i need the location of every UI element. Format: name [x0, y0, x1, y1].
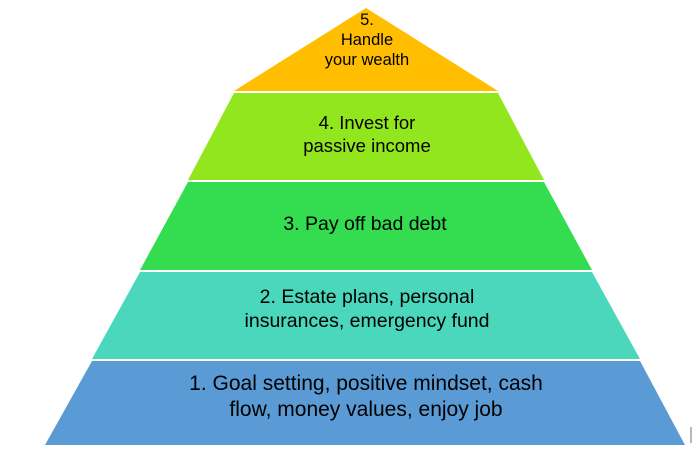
pyramid-tier-4-shape[interactable] [188, 93, 544, 180]
pyramid-tier-1-shape[interactable] [45, 361, 685, 445]
right-edge-tick-mark [690, 427, 692, 443]
pyramid-tier-2-shape[interactable] [92, 272, 640, 359]
pyramid-diagram [0, 0, 700, 456]
pyramid-tier-3-shape[interactable] [140, 182, 592, 270]
